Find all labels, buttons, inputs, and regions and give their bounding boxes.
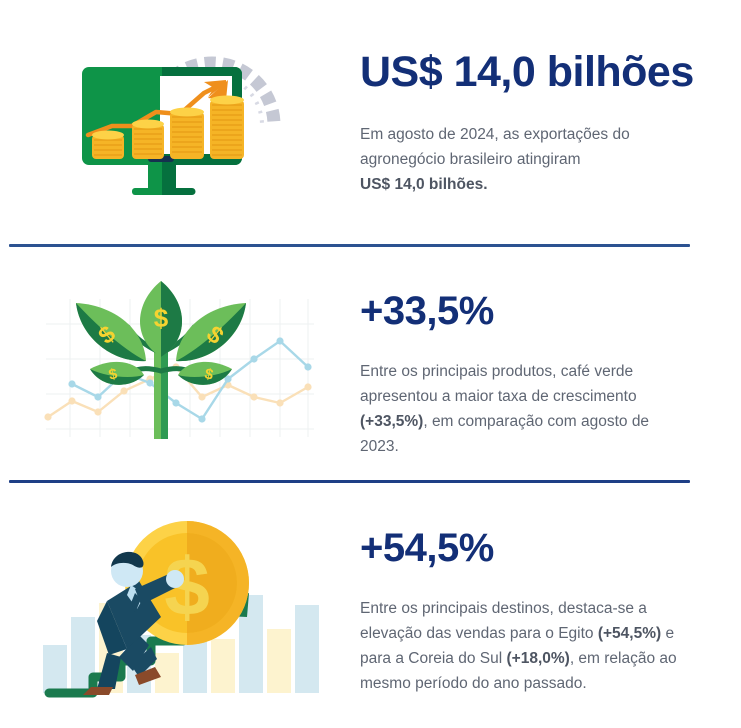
stat-block-top-destination-growth: $ [0, 512, 741, 712]
coin-stack-1 [92, 131, 124, 160]
headline-top-product-growth: +33,5% [360, 291, 721, 331]
body-bold-2: (+18,0%) [506, 650, 569, 667]
body-line-3-bold: US$ 14,0 bilhões. [360, 176, 488, 193]
infographic-page: US$ 14,0 bilhões Em agosto de 2024, as e… [0, 0, 741, 728]
leaf-mid-right: $ [176, 303, 246, 361]
svg-text:$: $ [154, 303, 169, 333]
money-plant-illustration: $ $ $ [0, 275, 360, 455]
section-divider-1 [9, 244, 690, 247]
body-bold-1: (+54,5%) [598, 625, 661, 642]
leaf-bottom-left: $ [90, 362, 144, 385]
leaf-mid-left: $ [76, 303, 146, 361]
monitor-growth-chart-coins-illustration [0, 25, 360, 210]
headline-exports-total: US$ 14,0 bilhões [360, 51, 721, 94]
coin-stack-3 [170, 108, 204, 160]
body-exports-total: Em agosto de 2024, as exportações do agr… [360, 122, 680, 197]
series-line-orange [44, 363, 311, 420]
section-divider-2 [9, 480, 690, 483]
top-product-growth-text: +33,5% Entre os principais produtos, caf… [360, 275, 741, 455]
stat-block-exports-total: US$ 14,0 bilhões Em agosto de 2024, as e… [0, 25, 741, 210]
body-bold-1: (+33,5%) [360, 413, 423, 430]
body-line-2: agronegócio brasileiro atingiram [360, 151, 581, 168]
exports-total-text: US$ 14,0 bilhões Em agosto de 2024, as e… [360, 25, 741, 210]
body-top-destination-growth: Entre os principais destinos, destaca-se… [360, 596, 680, 696]
body-segment-1: Entre os principais produtos, café verde… [360, 363, 637, 405]
money-plant-leaves-chart-icon: $ $ $ [40, 279, 320, 451]
body-top-product-growth: Entre os principais produtos, café verde… [360, 359, 680, 459]
top-destination-growth-text: +54,5% Entre os principais destinos, des… [360, 512, 741, 712]
coin-stack-4 [210, 96, 244, 160]
stat-block-top-product-growth: $ $ $ [0, 275, 741, 455]
monitor-growth-chart-coins-icon [70, 30, 290, 205]
body-line-1: Em agosto de 2024, as exportações do [360, 126, 630, 143]
coin-stack-2 [132, 120, 164, 160]
headline-top-destination-growth: +54,5% [360, 528, 721, 568]
leaf-bottom-right: $ [178, 362, 232, 385]
businessman-pushing-coin-uphill-icon: $ [35, 517, 325, 707]
businessman-coin-illustration: $ [0, 512, 360, 712]
